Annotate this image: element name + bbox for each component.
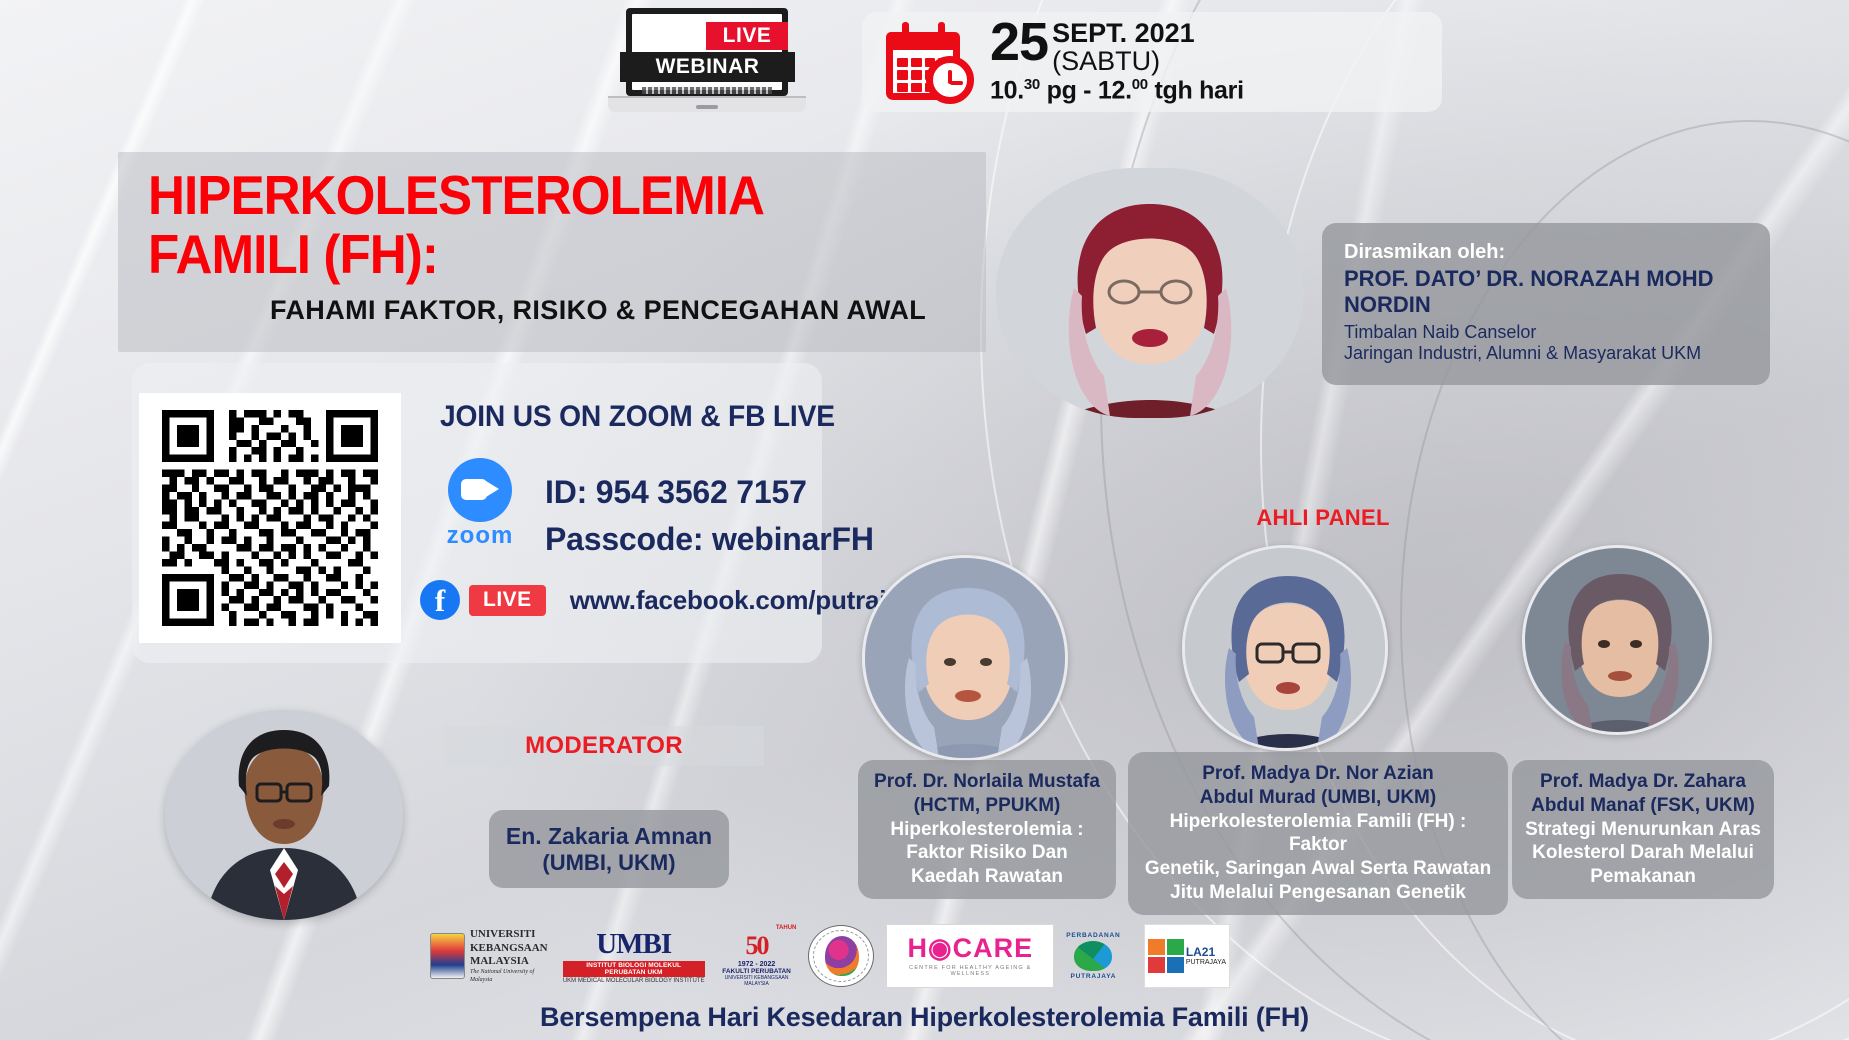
facebook-icon[interactable]: f [420, 580, 460, 620]
umbi-logo: UMBI INSTITUT BIOLOGI MOLEKUL PERUBATAN … [563, 924, 705, 988]
fakulti-perubatan-50-logo: TAHUN 50 1972 - 2022 FAKULTI PERUBATAN U… [717, 924, 797, 988]
panelist-1-name: Prof. Dr. Norlaila Mustafa (HCTM, PPUKM) [870, 770, 1104, 818]
vip-photo [996, 168, 1304, 418]
moderator-portrait [165, 710, 403, 920]
webinar-badge: WEBINAR [620, 52, 795, 82]
laptop-base [608, 96, 806, 112]
facebook-live-badge: LIVE [469, 585, 546, 616]
webinar-badge-label: WEBINAR [656, 55, 760, 79]
panelist-3-portrait [1525, 548, 1712, 735]
umbi-sub-malay: INSTITUT BIOLOGI MOLEKUL PERUBATAN UKM [563, 961, 705, 977]
umbi-wordmark: UMBI [563, 928, 705, 961]
vip-department: Jaringan Industri, Alumni & Masyarakat U… [1344, 343, 1748, 364]
fp50-university: UNIVERSITI KEBANGSAAN MALAYSIA [717, 975, 797, 987]
ppj-top-text: PERBADANAN [1066, 932, 1120, 939]
facebook-live-row[interactable]: f LIVE www.facebook.com/putrajaya [420, 580, 929, 620]
zoom-camera-body [461, 479, 487, 500]
panelist-1-portrait [865, 558, 1068, 761]
panelist-caption-2: Prof. Madya Dr. Nor Azian Abdul Murad (U… [1128, 752, 1508, 915]
fp50-faculty: FAKULTI PERUBATAN [717, 968, 797, 975]
zoom-passcode: Passcode: webinarFH [545, 521, 874, 558]
ukm-line-2: KEBANGSAAN [470, 942, 548, 954]
moderator-photo [165, 710, 403, 920]
hcare-tagline: CENTRE FOR HEALTHY AGEING & WELLNESS [897, 965, 1043, 977]
panelist-photo-2 [1182, 545, 1388, 751]
hcare-logo: H◉CARE CENTRE FOR HEALTHY AGEING & WELLN… [886, 924, 1054, 988]
webinar-poster: LIVE WEBINAR 25 SEPT. 2021 [0, 0, 1849, 1040]
ukm-crest-icon [430, 933, 465, 979]
title-line-2: FAMILI (FH): [148, 225, 927, 284]
title-subtitle: FAHAMI FAKTOR, RISIKO & PENCEGAHAN AWAL [270, 295, 986, 326]
event-date-box: 25 SEPT. 2021 (SABTU) 10.30 pg - 12.00 t… [862, 12, 1442, 112]
ukm-line-1: UNIVERSITI [470, 928, 535, 940]
panelist-2-portrait [1185, 548, 1388, 751]
ukm-logo: UNIVERSITI KEBANGSAAN MALAYSIA The Natio… [430, 924, 551, 988]
laptop-notch [696, 105, 718, 109]
vip-role: Timbalan Naib Canselor [1344, 322, 1748, 343]
event-date-month: SEPT. 2021 [1052, 20, 1195, 48]
panelist-photo-1 [862, 555, 1068, 761]
panelist-2-topic: Hiperkolesterolemia Famili (FH) : Faktor… [1140, 810, 1496, 905]
vip-name: PROF. DATO’ DR. NORAZAH MOHD NORDIN [1344, 266, 1748, 318]
panelist-1-topic: Hiperkolesterolemia : Faktor Risiko Dan … [870, 818, 1104, 889]
laptop-screen: LIVE WEBINAR [626, 8, 788, 96]
join-heading: JOIN US ON ZOOM & FB LIVE [440, 400, 835, 434]
clock-icon [926, 56, 974, 104]
ppj-bottom-text: PUTRAJAYA [1066, 973, 1120, 980]
hcare-wordmark: H◉CARE [897, 935, 1043, 962]
qr-code-card [139, 393, 401, 643]
la21-abbr: LA21 [1186, 945, 1215, 959]
ukm-line-3: MALAYSIA [470, 955, 529, 967]
event-date-weekday: (SABTU) [1052, 48, 1195, 76]
fp50-years: 1972 - 2022 [717, 961, 797, 968]
title-block: HIPERKOLESTEROLEMIA FAMILI (FH): FAHAMI … [118, 152, 986, 352]
umbi-sub-english: UKM MEDICAL MOLECULAR BIOLOGY INSTITUTE [563, 978, 705, 984]
zoom-meeting-id: ID: 954 3562 7157 [545, 474, 807, 511]
calendar-clock-icon [884, 20, 976, 104]
event-date-text: 25 SEPT. 2021 (SABTU) 10.30 pg - 12.00 t… [990, 18, 1244, 105]
panelist-caption-3: Prof. Madya Dr. Zahara Abdul Manaf (FSK,… [1512, 760, 1774, 899]
la21-name: PUTRAJAYA [1186, 959, 1226, 967]
live-webinar-laptop-icon: LIVE WEBINAR [608, 8, 806, 123]
zoom-wordmark: zoom [434, 522, 526, 550]
perbadanan-putrajaya-logo: PERBADANAN PUTRAJAYA [1066, 924, 1132, 988]
live-badge-label: LIVE [723, 24, 772, 48]
panelist-photo-3 [1522, 545, 1712, 735]
live-badge: LIVE [706, 22, 788, 50]
vip-portrait-illustration [996, 168, 1304, 418]
panel-heading: AHLI PANEL [1178, 505, 1468, 531]
moderator-org: (UMBI, UKM) [542, 850, 675, 876]
fsk-logo [808, 924, 874, 988]
la21-text: LA21 PUTRAJAYA [1186, 946, 1226, 967]
event-date-number: 25 [990, 18, 1048, 68]
panelist-caption-1: Prof. Dr. Norlaila Mustafa (HCTM, PPUKM)… [858, 760, 1116, 899]
la21-putrajaya-logo: LA21 PUTRAJAYA [1144, 924, 1230, 988]
vip-prefix: Dirasmikan oleh: [1344, 241, 1748, 264]
sponsor-logos: UNIVERSITI KEBANGSAAN MALAYSIA The Natio… [430, 920, 1230, 992]
footer-tagline: Bersempena Hari Kesedaran Hiperkolestero… [0, 1002, 1849, 1033]
zoom-camera-icon [448, 458, 512, 522]
moderator-card: En. Zakaria Amnan (UMBI, UKM) [489, 810, 729, 888]
moderator-name: En. Zakaria Amnan [506, 823, 712, 850]
fsk-swirl-icon [825, 936, 859, 976]
ppj-leaf-icon [1074, 941, 1112, 971]
zoom-camera-lens [486, 481, 499, 497]
panelist-3-topic: Strategi Menurunkan Aras Kolesterol Dara… [1524, 818, 1762, 889]
event-time: 10.30 pg - 12.00 tgh hari [990, 76, 1244, 105]
title-line-1: HIPERKOLESTEROLEMIA [148, 166, 927, 225]
fsk-crest-icon [808, 925, 874, 987]
qr-code-icon[interactable] [162, 410, 378, 626]
vip-info-box: Dirasmikan oleh: PROF. DATO’ DR. NORAZAH… [1322, 223, 1770, 385]
calendar-header [886, 32, 960, 50]
ukm-logo-text: UNIVERSITI KEBANGSAAN MALAYSIA The Natio… [470, 928, 551, 984]
panelist-3-name: Prof. Madya Dr. Zahara Abdul Manaf (FSK,… [1524, 770, 1762, 818]
fp50-number: 50 [717, 931, 797, 961]
ukm-line-4: The National University of Malaysia [470, 969, 551, 984]
la21-tiles-icon [1148, 939, 1184, 973]
zoom-logo: zoom [434, 458, 526, 546]
laptop-keyboard [642, 87, 772, 94]
moderator-label: MODERATOR [444, 726, 764, 766]
panelist-2-name: Prof. Madya Dr. Nor Azian Abdul Murad (U… [1140, 762, 1496, 810]
